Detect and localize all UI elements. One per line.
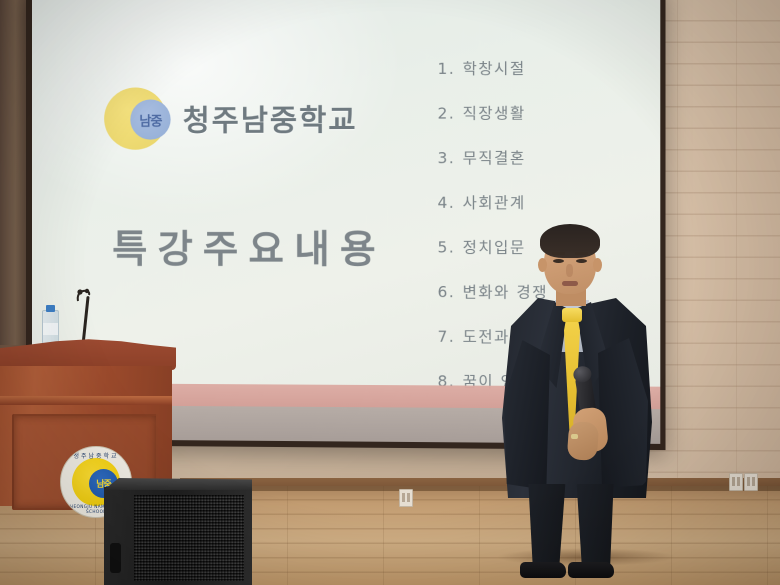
- agenda-number: 3.: [438, 149, 456, 167]
- agenda-number: 7.: [438, 328, 456, 346]
- agenda-number: 1.: [438, 60, 456, 78]
- agenda-label: 학창시절: [463, 59, 526, 78]
- logo-blue-circle: 남중: [130, 99, 170, 139]
- school-name-text: 청주남중학교: [183, 97, 358, 140]
- school-logo: 남중 청주남중학교: [104, 87, 357, 150]
- speaker-person: [498, 222, 658, 585]
- ear-right: [593, 258, 602, 272]
- ear-left: [538, 258, 547, 272]
- pa-speaker-grille: [134, 495, 244, 581]
- shoe-left: [520, 562, 566, 578]
- finger-ring: [571, 434, 578, 439]
- shoe-right: [568, 562, 614, 578]
- eye-left: [553, 259, 564, 263]
- agenda-label: 무직결혼: [463, 149, 526, 167]
- logo-yellow-circle: 남중: [104, 87, 166, 149]
- agenda-number: 5.: [438, 238, 456, 256]
- left-wall-strip: [0, 0, 26, 350]
- hand-left: [567, 421, 600, 461]
- legs: [518, 484, 636, 572]
- necktie-knot: [562, 308, 582, 322]
- hair: [540, 224, 600, 258]
- pa-speaker-handle: [110, 543, 121, 573]
- eyebrow-right: [575, 252, 588, 255]
- trouser-leg-right: [574, 484, 618, 568]
- trouser-leg-left: [524, 484, 568, 568]
- photo-scene: 남중 청주남중학교 특강주요내용 1.학창시절 2.직장생활 3.무직결혼 4.…: [0, 0, 780, 585]
- pa-speaker-cabinet: [104, 487, 252, 585]
- mouth: [562, 281, 578, 286]
- slide-title: 특강주요내용: [112, 218, 386, 274]
- agenda-item: 2.직장생활: [438, 101, 661, 123]
- pa-speaker-top: [104, 478, 252, 490]
- logo-inner-mark: 남중: [139, 110, 161, 129]
- eyebrow-left: [552, 252, 565, 255]
- agenda-number: 2.: [438, 104, 456, 122]
- agenda-item: 3.무직결혼: [438, 146, 661, 168]
- agenda-item: 1.학창시절: [438, 56, 661, 79]
- wall-outlet-plate: [399, 489, 413, 507]
- eye-right: [576, 259, 587, 263]
- bottle-label: [43, 323, 58, 335]
- agenda-label: 직장생활: [463, 104, 526, 123]
- bottle-cap: [46, 305, 55, 312]
- agenda-label: 사회관계: [463, 194, 526, 212]
- wall-outlet-plate: [744, 473, 758, 491]
- gooseneck-mic-head: [74, 288, 92, 304]
- agenda-item: 4.사회관계: [438, 191, 661, 213]
- agenda-number: 6.: [438, 283, 456, 301]
- nose: [566, 264, 573, 277]
- wall-outlet-plate: [729, 473, 743, 491]
- agenda-number: 4.: [438, 194, 456, 212]
- podium-shelf-trim: [0, 396, 172, 405]
